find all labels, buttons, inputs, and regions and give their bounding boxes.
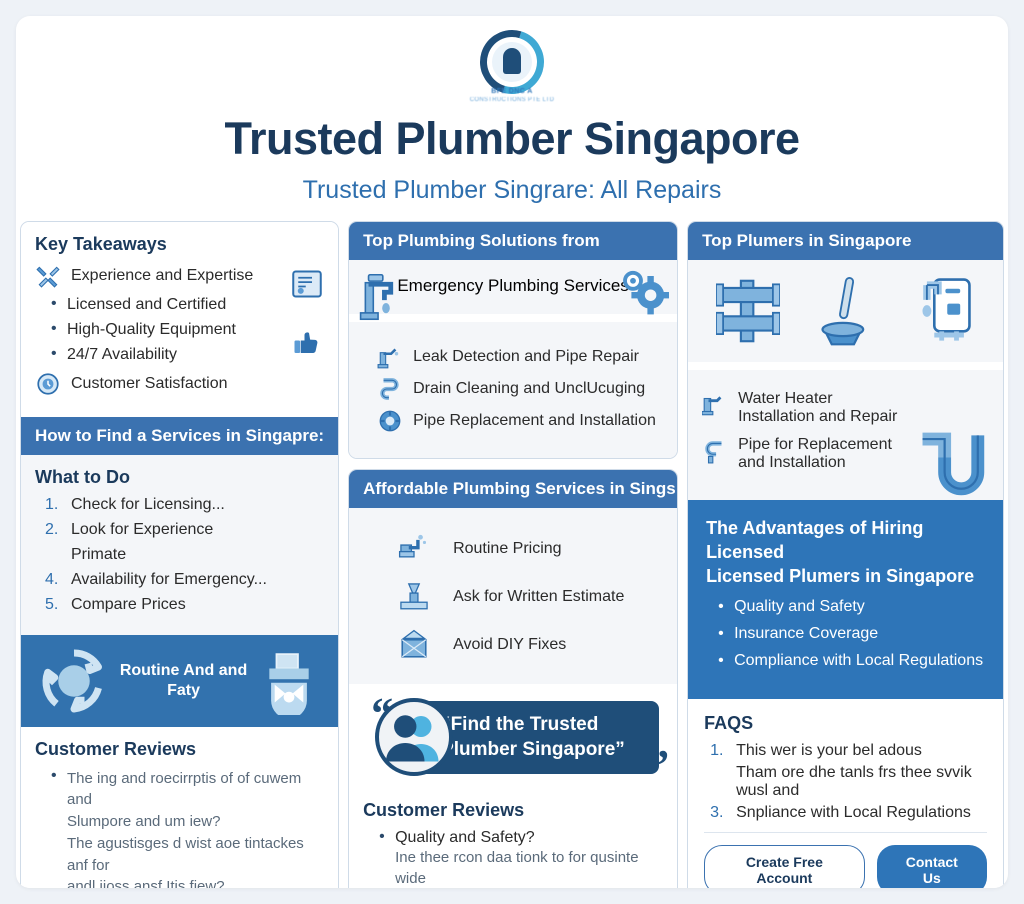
how-to-find-steps: 1.Check for Licensing... 2.Look for Expe… — [35, 496, 324, 614]
key-takeaway-label: Customer Satisfaction — [71, 375, 228, 393]
key-takeaways-body: Key Takeaways Experience and Expertise L… — [21, 222, 338, 417]
list-item: Primate — [45, 546, 324, 564]
list-item: 3.Snpliance with Local Regulations — [710, 804, 987, 822]
top-plumbers-hero — [688, 260, 1003, 362]
quote-line2: Plumber Singapore” — [441, 739, 625, 760]
step-number: 1. — [45, 496, 58, 514]
affordable-item: Avoid DIY Fixes — [397, 628, 663, 662]
water-heater-icon — [901, 274, 975, 348]
middle-column: Top Plumbing Solutions from Emergency Pl… — [348, 221, 678, 889]
list-item: Insurance Coverage — [718, 625, 985, 643]
top-plumbers-bar: Top Plumers in Singapore — [688, 222, 1003, 260]
routine-safety-band: Routine And and Faty — [21, 635, 338, 727]
step-text: Look for Experience — [71, 521, 213, 538]
step-text: Primate — [71, 546, 126, 563]
faqs-title: FAQS — [704, 713, 987, 734]
faqs-body: FAQS 1.This wer is your bel adous Tham o… — [688, 699, 1003, 888]
gears-icon — [613, 268, 669, 316]
faq-number: 3. — [710, 804, 723, 822]
infographic-sheet: BFE DNC A CONSTRUCTIONS PTE LTD Trusted … — [16, 16, 1008, 888]
step-text: Check for Licensing... — [71, 496, 225, 513]
card-affordable: Affordable Plumbing Services in Sings Ro… — [348, 469, 678, 889]
review-line: Slumpore and um iew? — [67, 813, 220, 830]
pipe-elbow-icon — [702, 392, 728, 418]
step-number: 5. — [45, 596, 58, 614]
logo-text-line1: BFE DNC A — [466, 88, 558, 95]
create-free-account-button[interactable]: Create Free Account — [704, 845, 865, 888]
middle-reviews-body: Customer Reviews Quality and Safety? Ine… — [349, 788, 677, 889]
left-reviews-title: Customer Reviews — [35, 739, 324, 760]
left-column: Key Takeaways Experience and Expertise L… — [20, 221, 339, 889]
header: BFE DNC A CONSTRUCTIONS PTE LTD Trusted … — [16, 16, 1008, 205]
cta-button-row: Create Free Account Contact Us — [704, 845, 987, 888]
list-item: The ing and roecirrptis of of cuwem and … — [51, 768, 324, 889]
top-solutions-list: Leak Detection and Pipe Repair Drain Cle… — [349, 322, 677, 458]
band-label: Routine And and Faty — [109, 661, 258, 701]
affordable-item: Ask for Written Estimate — [397, 580, 663, 614]
middle-reviews-list: Quality and Safety? Ine thee rcon daa ti… — [363, 829, 663, 889]
affordable-label: Routine Pricing — [453, 540, 562, 558]
right-column: Top Plumers in Singapore — [687, 221, 1004, 889]
list-item: 2.Look for Experience — [45, 521, 324, 539]
plumber-service-label: Pipe for Replacement and Installation — [738, 436, 892, 472]
faucet-icon — [359, 270, 413, 324]
avatar — [379, 702, 449, 772]
toolbox-icon — [397, 628, 431, 662]
affordable-label: Avoid DIY Fixes — [453, 636, 566, 654]
list-item: Compliance with Local Regulations — [718, 652, 985, 670]
page-root: BFE DNC A CONSTRUCTIONS PTE LTD Trusted … — [0, 0, 1024, 904]
recycle-gauge-icon — [39, 646, 109, 716]
faucet-drip-icon — [397, 532, 431, 566]
key-takeaway-item: Customer Satisfaction — [35, 371, 324, 397]
pipe-leak-icon — [377, 344, 403, 370]
page-title: Trusted Plumber Singapore — [16, 114, 1008, 164]
step-text: Compare Prices — [71, 596, 186, 613]
pipe-valve-icon — [258, 647, 320, 715]
pipe-fittings-icon — [716, 277, 780, 345]
review-line: The agustisges d wist aoe tintackes anf … — [67, 835, 304, 874]
company-logo: BFE DNC A CONSTRUCTIONS PTE LTD — [466, 28, 558, 110]
columns-container: Key Takeaways Experience and Expertise L… — [16, 205, 1008, 889]
step-text: Availability for Emergency... — [71, 571, 267, 588]
review-line: The ing and roecirrptis of of cuwem and — [67, 770, 301, 809]
faqs-divider — [704, 832, 987, 833]
list-item: 4.Availability for Emergency... — [45, 571, 324, 589]
key-takeaways-title: Key Takeaways — [35, 234, 324, 255]
logo-worker-icon — [503, 48, 521, 74]
top-solutions-feature: Emergency Plumbing Services — [349, 260, 677, 314]
list-item: 1.This wer is your bel adous — [710, 742, 987, 760]
key-takeaway-bullet: 24/7 Availability — [51, 346, 324, 364]
affordable-bar: Affordable Plumbing Services in Sings — [349, 470, 677, 508]
service-line2: and Installation — [738, 454, 846, 471]
band-label-line1: Routine And and — [120, 662, 247, 679]
left-reviews-body: Customer Reviews The ing and roecirrptis… — [21, 727, 338, 889]
key-takeaway-bullet: Licensed and Certified — [51, 296, 324, 314]
faq-number: 1. — [710, 742, 723, 760]
list-item: Tham ore dhe tanls frs thee svvik wusl a… — [710, 764, 987, 800]
solution-item: Leak Detection and Pipe Repair — [377, 344, 663, 370]
drain-pipe-icon — [377, 376, 403, 402]
plumber-service-label: Water Heater Installation and Repair — [738, 390, 897, 426]
solution-item: Drain Cleaning and UnclUcuging — [377, 376, 663, 402]
hero-separator — [688, 362, 1003, 370]
card-top-plumbers: Top Plumers in Singapore — [687, 221, 1004, 889]
key-takeaway-label: Experience and Expertise — [71, 267, 253, 285]
wrench-icon — [35, 263, 61, 289]
review-line: andl iioss ansf Itis fiew? — [67, 878, 225, 888]
quote-banner: “ “Find the Trusted Plumber Singapore” — [349, 688, 677, 788]
feature-label: Emergency Plumbing Services — [397, 276, 628, 296]
affordable-body: Routine Pricing Ask for Written Estimate — [349, 508, 677, 684]
list-item: Quality and Safety? Ine thee rcon daa ti… — [379, 829, 663, 889]
service-line1: Water Heater — [738, 390, 833, 407]
faq-text: Snpliance with Local Regulations — [736, 804, 971, 821]
faq-text: This wer is your bel adous — [736, 742, 922, 759]
left-reviews-list: The ing and roecirrptis of of cuwem and … — [35, 768, 324, 889]
clock-icon — [35, 371, 61, 397]
list-item: 1.Check for Licensing... — [45, 496, 324, 514]
card-top-solutions: Top Plumbing Solutions from Emergency Pl… — [348, 221, 678, 459]
advantages-list: Quality and Safety Insurance Coverage Co… — [706, 598, 985, 670]
advantages-panel: The Advantages of Hiring Licensed Licens… — [688, 500, 1003, 700]
quote-line1: “Find the Trusted — [441, 714, 598, 735]
u-trap-icon — [915, 428, 989, 498]
key-takeaway-bullet: High-Quality Equipment — [51, 321, 324, 339]
pipe-bend-icon — [702, 438, 728, 464]
valve-icon — [377, 408, 403, 434]
affordable-item: Routine Pricing — [397, 532, 663, 566]
certificate-icon — [292, 270, 322, 298]
list-item: Quality and Safety — [718, 598, 985, 616]
logo-text-line2: CONSTRUCTIONS PTE LTD — [466, 97, 558, 103]
advantages-title-line1: The Advantages of Hiring Licensed — [706, 518, 923, 562]
affordable-label: Ask for Written Estimate — [453, 588, 624, 606]
band-label-line2: Faty — [167, 682, 200, 699]
how-to-find-bar: How to Find a Services in Singapre: — [21, 417, 338, 455]
page-subtitle: Trusted Plumber Singrare: All Repairs — [16, 176, 1008, 205]
faqs-list: 1.This wer is your bel adous Tham ore dh… — [704, 742, 987, 822]
advantages-title: The Advantages of Hiring Licensed Licens… — [706, 516, 985, 589]
solution-label: Pipe Replacement and Installation — [413, 412, 656, 430]
list-item: 5.Compare Prices — [45, 596, 324, 614]
middle-reviews-title: Customer Reviews — [363, 800, 663, 821]
solution-label: Drain Cleaning and UnclUcuging — [413, 380, 645, 398]
step-number: 2. — [45, 521, 58, 539]
plumber-service-item: Water Heater Installation and Repair — [702, 390, 989, 426]
top-plumbers-items: Water Heater Installation and Repair Pip… — [688, 370, 1003, 500]
review-line: Ine thee rcon daa tionk to for qusinte w… — [395, 849, 639, 888]
quote-close-mark: ” — [647, 744, 669, 788]
solution-label: Leak Detection and Pipe Repair — [413, 348, 639, 366]
how-to-find-body: What to Do 1.Check for Licensing... 2.Lo… — [21, 455, 338, 635]
service-line2: Installation and Repair — [738, 408, 897, 425]
top-solutions-bar: Top Plumbing Solutions from — [349, 222, 677, 260]
solution-item: Pipe Replacement and Installation — [377, 408, 663, 434]
review-bullet: Quality and Safety? — [395, 829, 535, 846]
advantages-title-line2: Licensed Plumers in Singapore — [706, 566, 974, 586]
people-avatar-icon — [375, 698, 453, 776]
plunger-icon — [815, 274, 867, 348]
sink-tap-icon — [397, 580, 431, 614]
thumbs-up-icon — [292, 328, 322, 358]
step-number: 4. — [45, 571, 58, 589]
key-takeaway-item: Experience and Expertise — [35, 263, 324, 289]
how-to-find-subtitle: What to Do — [35, 467, 324, 488]
contact-us-button[interactable]: Contact Us — [877, 845, 987, 888]
service-line1: Pipe for Replacement — [738, 436, 892, 453]
faq-text: Tham ore dhe tanls frs thee svvik wusl a… — [736, 764, 972, 799]
key-takeaways-bullets: Licensed and Certified High-Quality Equi… — [35, 296, 324, 364]
card-key-takeaways: Key Takeaways Experience and Expertise L… — [20, 221, 339, 889]
